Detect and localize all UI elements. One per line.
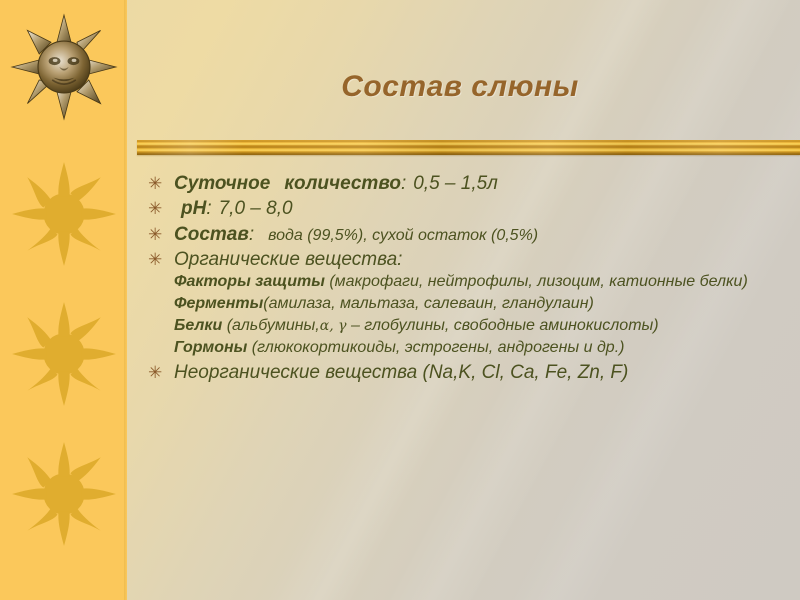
sub-item-proteins: Белки (альбумины,α, γ – глобулины, свобо… — [174, 317, 793, 336]
bullet-text: Состав:вода (99,5%), сухой остаток (0,5%… — [174, 223, 793, 246]
bullet-item-composition: ✳ Состав:вода (99,5%), сухой остаток (0,… — [148, 223, 793, 246]
bullet-item-inorganic-substances: ✳ Неорганические вещества (Na,K, Cl, Ca,… — [148, 361, 793, 384]
bullet-label-2: количество — [284, 173, 401, 194]
bullet-item-organic-substances: ✳ Органические вещества: — [148, 248, 793, 271]
sub-item-hormones: Гормоны (глюкокортикоиды, эстрогены, анд… — [174, 339, 793, 358]
bullet-value: 7,0 – 8,0 — [219, 198, 293, 219]
greek-separator: , — [329, 318, 338, 334]
organic-substances-sublist: Факторы защиты (макрофаги, нейтрофилы, л… — [174, 273, 793, 358]
greek-alpha-symbol: α — [320, 318, 329, 334]
star-bullet-icon: ✳ — [148, 361, 174, 384]
bullet-text: Суточноеколичество:0,5 – 1,5л — [174, 172, 793, 195]
bullet-value: вода (99,5%), сухой остаток (0,5%) — [268, 227, 538, 244]
bullet-item-ph: ✳ pH:7,0 – 8,0 — [148, 197, 793, 220]
bullet-label: Суточное — [174, 173, 270, 194]
sub-item-value-suffix: – глобулины, свободные аминокислоты) — [351, 317, 659, 334]
sub-item-label: Гормоны — [174, 339, 247, 356]
bullet-separator: : — [401, 173, 406, 194]
decorative-sidebar-band — [0, 0, 127, 600]
bullet-value: 0,5 – 1,5л — [413, 173, 498, 194]
gold-divider-bar — [137, 140, 800, 155]
bullet-text: Неорганические вещества (Na,K, Cl, Ca, F… — [174, 361, 694, 384]
slide-body: ✳ Суточноеколичество:0,5 – 1,5л ✳ pH:7,0… — [148, 172, 793, 386]
sun-silhouette-icon-2 — [10, 300, 118, 408]
bullet-text: pH:7,0 – 8,0 — [174, 197, 793, 220]
sub-item-label: Факторы защиты — [174, 273, 325, 290]
star-bullet-icon: ✳ — [148, 223, 174, 246]
bullet-separator: : — [249, 224, 254, 245]
sub-item-protective-factors: Факторы защиты (макрофаги, нейтрофилы, л… — [174, 273, 793, 292]
greek-gamma-symbol: γ — [338, 318, 346, 334]
star-bullet-icon: ✳ — [148, 172, 174, 195]
sub-item-value: (амилаза, мальтаза, салеваин, гландулаин… — [263, 295, 594, 312]
sun-silhouette-icon-1 — [10, 160, 118, 268]
bullet-label: pH — [181, 198, 206, 219]
bullet-separator: : — [206, 198, 211, 219]
bullet-label: Состав — [174, 224, 249, 245]
presentation-slide: Состав слюны ✳ Суточноеколичество:0,5 – … — [0, 0, 800, 600]
sub-item-value: (макрофаги, нейтрофилы, лизоцим, катионн… — [329, 273, 747, 290]
star-bullet-icon: ✳ — [148, 197, 174, 220]
sun-silhouette-icon-3 — [10, 440, 118, 548]
sun-face-medallion-icon — [5, 8, 123, 126]
sub-item-value-prefix: (альбумины, — [227, 317, 320, 334]
sub-item-label: Ферменты — [174, 295, 263, 312]
star-bullet-icon: ✳ — [148, 248, 174, 271]
sidebar-edge-shadow — [124, 0, 127, 600]
bullet-item-daily-amount: ✳ Суточноеколичество:0,5 – 1,5л — [148, 172, 793, 195]
sub-item-enzymes: Ферменты(амилаза, мальтаза, салеваин, гл… — [174, 295, 793, 314]
sub-item-value: (глюкокортикоиды, эстрогены, андрогены и… — [252, 339, 625, 356]
gold-bar-glint — [137, 140, 800, 155]
bullet-text: Органические вещества: — [174, 248, 793, 271]
slide-title: Состав слюны — [150, 70, 770, 104]
sub-item-label: Белки — [174, 317, 222, 334]
